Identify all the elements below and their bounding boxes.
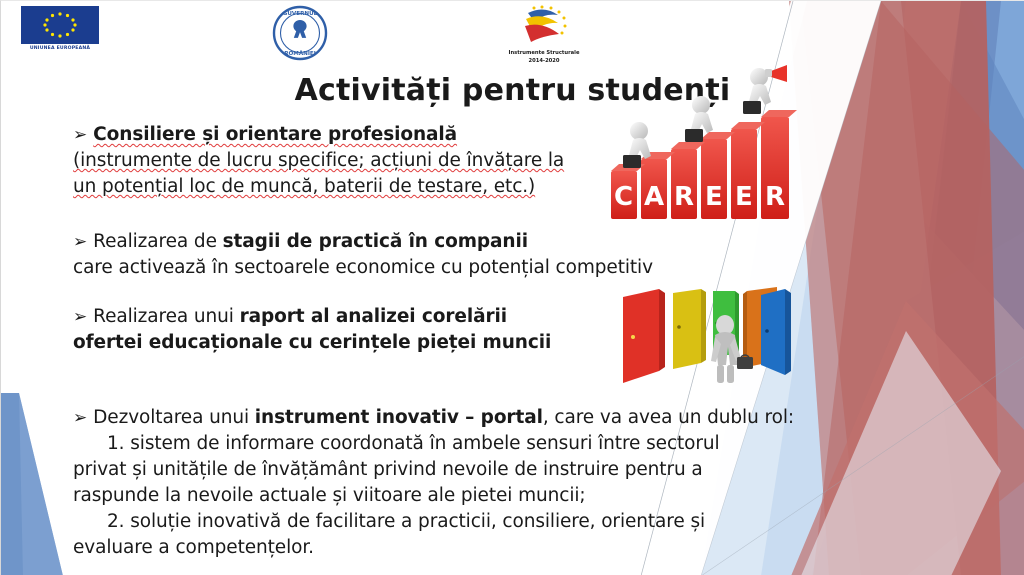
bullet-3-line-1: ofertei educaționale cu cerințele pieței… <box>73 330 593 356</box>
svg-text:R: R <box>674 182 694 212</box>
bullet-4-heading: instrument inovativ – portal <box>255 407 543 428</box>
svg-text:C: C <box>614 182 633 212</box>
government-seal-icon: GUVERNUL ROMÂNIEI <box>272 5 328 61</box>
presentation-slide: UNIUNEA EUROPEANĂ GUVERNUL ROMÂNIEI <box>0 0 1024 575</box>
bullet-item-1: ➢Consiliere și orientare profesională (i… <box>73 122 613 200</box>
structural-instruments-icon <box>508 3 580 45</box>
bullet-4-lead: Dezvoltarea unui <box>93 407 255 428</box>
svg-text:R: R <box>765 182 785 212</box>
bullet-3-heading-line: ➢Realizarea unui raport al analizei core… <box>73 304 593 330</box>
svg-text:E: E <box>705 182 723 212</box>
bullet-4-sub-1-line-1: 1. sistem de informare coordonată în amb… <box>73 431 803 457</box>
bullet-4-sub-1-line-3: raspunde la nevoile actuale și viitoare … <box>73 483 803 509</box>
eu-flag-icon <box>21 6 99 44</box>
bullet-4-sub-1-line-2: privat și unitățile de învățământ privin… <box>73 457 803 483</box>
bullet-4-heading-line: ➢Dezvoltarea unui instrument inovativ – … <box>73 405 803 431</box>
logo-strip: UNIUNEA EUROPEANĂ GUVERNUL ROMÂNIEI <box>1 1 621 63</box>
svg-text:ROMÂNIEI: ROMÂNIEI <box>284 50 316 57</box>
bullet-4-sub-2-line-1: 2. soluție inovativă de facilitare a pra… <box>73 509 803 535</box>
bullet-2-heading: stagii de practică în companii <box>223 231 528 252</box>
bullet-4-sub-2-line-2: evaluare a competențelor. <box>73 535 803 561</box>
bullet-4-tail: , care va avea un dublu rol: <box>543 407 794 428</box>
romanian-government-logo: GUVERNUL ROMÂNIEI <box>269 5 331 65</box>
bullet-arrow-icon: ➢ <box>73 125 87 145</box>
bullet-3-heading: raport al analizei corelării <box>240 306 507 327</box>
sub-item-2-text-1: soluție inovativă de facilitare a practi… <box>130 511 705 532</box>
bullet-1-line-1: (instrumente de lucru specifice; acțiuni… <box>73 148 613 174</box>
bullet-1-line-2: un potențial loc de muncă, baterii de te… <box>73 174 613 200</box>
sub-item-1-text-1: sistem de informare coordonată în ambele… <box>130 433 719 454</box>
eu-flag-logo: UNIUNEA EUROPEANĂ <box>19 6 101 51</box>
career-climbing-illustration: C A R E E R <box>605 63 817 231</box>
sub-item-1-number: 1. <box>107 433 124 454</box>
bullet-2-line-1: care activează în sectoarele economice c… <box>73 255 633 281</box>
eu-logo-caption: UNIUNEA EUROPEANĂ <box>19 46 101 51</box>
structural-instruments-caption-line2: 2014-2020 <box>501 58 587 65</box>
structural-instruments-logo: Instrumente Structurale 2014-2020 <box>501 3 587 65</box>
bullet-3-lead: Realizarea unui <box>93 306 239 327</box>
bullet-arrow-icon: ➢ <box>73 232 87 252</box>
colored-doors-illustration <box>601 279 813 391</box>
bullet-item-4: ➢Dezvoltarea unui instrument inovativ – … <box>73 405 803 561</box>
bullet-1-heading-line: ➢Consiliere și orientare profesională <box>73 122 613 148</box>
structural-instruments-caption-line1: Instrumente Structurale <box>501 50 587 57</box>
eu-stars-icon <box>21 6 99 44</box>
bullet-item-2: ➢Realizarea de stagii de practică în com… <box>73 229 633 281</box>
bullet-arrow-icon: ➢ <box>73 307 87 327</box>
bullet-2-lead: Realizarea de <box>93 231 222 252</box>
svg-text:E: E <box>735 182 753 212</box>
svg-text:A: A <box>644 182 664 212</box>
bullet-item-3: ➢Realizarea unui raport al analizei core… <box>73 304 593 356</box>
page-title: Activități pentru studenți <box>1 73 1024 108</box>
bullet-1-heading: Consiliere și orientare profesională <box>93 124 457 145</box>
bullet-arrow-icon: ➢ <box>73 408 87 428</box>
bullet-2-heading-line: ➢Realizarea de stagii de practică în com… <box>73 229 633 255</box>
sub-item-2-number: 2. <box>107 511 124 532</box>
svg-text:GUVERNUL: GUVERNUL <box>283 11 318 17</box>
